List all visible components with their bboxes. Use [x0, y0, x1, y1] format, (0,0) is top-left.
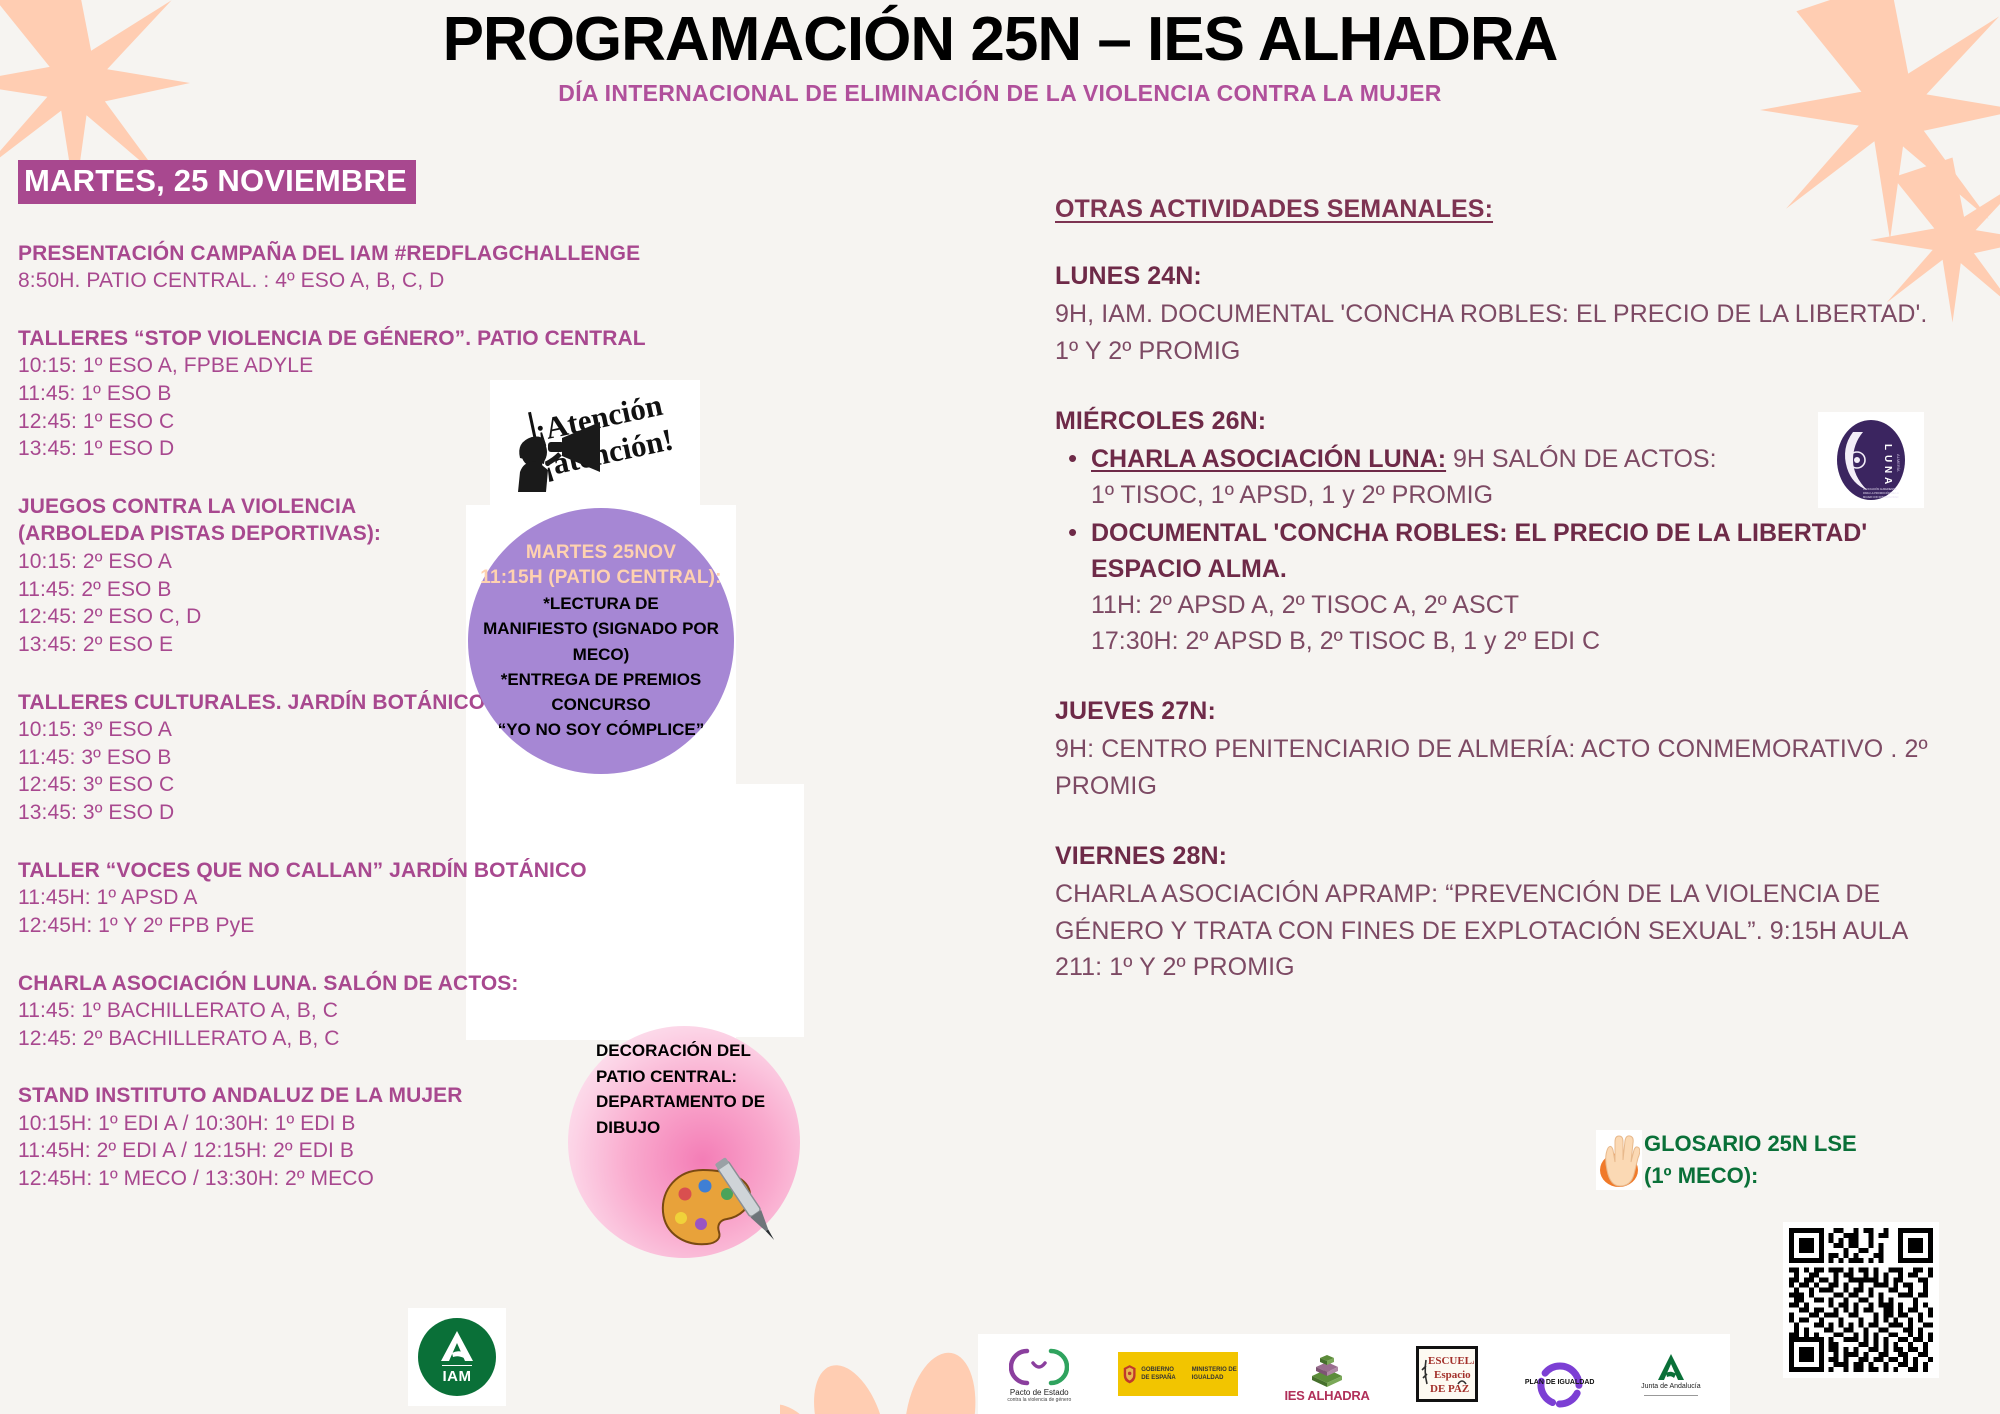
glosario-line-1: GLOSARIO 25N LSE: [1644, 1128, 1857, 1160]
manifesto-line-1: MARTES 25NOV: [526, 541, 676, 566]
bullet-bold-label: CHARLA ASOCIACIÓN LUNA:: [1091, 445, 1446, 473]
block-line: 12:45: 3º ESO C: [18, 771, 678, 799]
decoration-line-3: DEPARTAMENTO DE: [596, 1089, 796, 1115]
footer-logo-strip: Pacto de Estado contra la violencia de g…: [978, 1334, 1730, 1414]
divider: [1644, 1395, 1698, 1396]
manifesto-line-7: CONCURSO: [551, 693, 650, 716]
day-banner-martes: MARTES, 25 NOVIEMBRE: [18, 160, 416, 204]
block-line: 11:45: 1º ESO B: [18, 380, 678, 408]
manifesto-line-8: “YO NO SOY CÓMPLICE”: [498, 718, 705, 741]
schedule-block-talleres-stop: TALLERES “STOP VIOLENCIA DE GÉNERO”. PAT…: [18, 325, 678, 463]
manifesto-line-2: 11:15H (PATIO CENTRAL):: [480, 566, 721, 591]
block-heading: CHARLA ASOCIACIÓN LUNA. SALÓN DE ACTOS:: [18, 970, 678, 997]
block-line: 13:45: 1º ESO D: [18, 435, 678, 463]
logo-ies-alhadra: IES ALHADRA: [1285, 1334, 1370, 1414]
decoration-line-1: DECORACIÓN DEL: [596, 1038, 796, 1064]
block-line: 13:45: 3º ESO D: [18, 799, 678, 827]
logo-caption: GOBIERNO DE ESPAÑA: [1141, 1366, 1182, 1382]
weekly-day-label: LUNES 24N:: [1055, 262, 1955, 291]
block-heading: TALLER “VOCES QUE NO CALLAN” JARDÍN BOTÁ…: [18, 857, 678, 884]
svg-text:U: U: [1882, 455, 1893, 462]
iam-logo-label: IAM: [443, 1368, 472, 1385]
block-heading: TALLERES “STOP VIOLENCIA DE GÉNERO”. PAT…: [18, 325, 678, 352]
escudo-icon: [1122, 1357, 1137, 1391]
logo-gobierno-de-espana: GOBIERNO DE ESPAÑA MINISTERIO DE IGUALDA…: [1118, 1334, 1238, 1414]
logo-caption: PLAN DE IGUALDAD: [1525, 1379, 1595, 1387]
block-line: 12:45: 2º BACHILLERATO A, B, C: [18, 1025, 678, 1053]
weekly-block-viernes: VIERNES 28N: CHARLA ASOCIACIÓN APRAMP: “…: [1055, 842, 1955, 986]
svg-text:ESCUELA: ESCUELA: [1428, 1355, 1474, 1367]
svg-text:A: A: [1882, 477, 1893, 484]
luna-logo: L U N A ALMERÍA ASOCIACIÓN ALMERIENSE PA…: [1818, 412, 1924, 508]
raised-hand-icon: [1596, 1130, 1642, 1190]
logo-plan-de-igualdad: PLAN DE IGUALDAD: [1525, 1334, 1595, 1414]
weekly-day-text: 9H: CENTRO PENITENCIARIO DE ALMERÍA: ACT…: [1055, 731, 1955, 804]
iam-logo: IAM: [408, 1308, 506, 1406]
weekly-day-label: JUEVES 27N:: [1055, 697, 1955, 726]
right-column: OTRAS ACTIVIDADES SEMANALES: LUNES 24N: …: [1055, 195, 1955, 986]
block-line: 11:45H: 1º APSD A: [18, 884, 678, 912]
logo-caption: Pacto de Estado: [1010, 1388, 1069, 1397]
bullet-bold-label: DOCUMENTAL 'CONCHA ROBLES: EL PRECIO DE …: [1091, 519, 1867, 583]
escuela-box: ESCUELA Espacio DE PAZ: [1416, 1346, 1478, 1402]
svg-text:Espacio: Espacio: [1434, 1369, 1471, 1381]
logo-subcaption: MINISTERIO DE IGUALDAD: [1192, 1366, 1238, 1382]
svg-text:DE PAZ: DE PAZ: [1430, 1383, 1469, 1395]
logo-escuela-espacio-de-paz: ESCUELA Espacio DE PAZ: [1416, 1334, 1478, 1414]
weekly-day-text: CHARLA ASOCIACIÓN APRAMP: “PREVENCIÓN DE…: [1055, 876, 1955, 986]
alhadra-blocks-icon: [1306, 1346, 1348, 1388]
weekly-block-jueves: JUEVES 27N: 9H: CENTRO PENITENCIARIO DE …: [1055, 697, 1955, 804]
qr-code[interactable]: [1783, 1222, 1939, 1378]
bullet-sub-line: 11H: 2º APSD A, 2º TISOC A, 2º ASCT: [1091, 587, 1955, 623]
gobierno-caption: GOBIERNO DE ESPAÑA: [1141, 1366, 1182, 1382]
schedule-block-voces: TALLER “VOCES QUE NO CALLAN” JARDÍN BOTÁ…: [18, 857, 678, 940]
manifesto-line-3: *LECTURA DE: [543, 592, 659, 615]
manifesto-line-5: MECO): [573, 643, 630, 666]
logo-pacto-de-estado: Pacto de Estado contra la violencia de g…: [1007, 1334, 1071, 1414]
logo-caption: Junta de Andalucía: [1641, 1383, 1701, 1390]
svg-text:MUJER CON DISCAPACIDAD: MUJER CON DISCAPACIDAD: [1863, 495, 1899, 499]
manifesto-line-4: MANIFIESTO (SIGNADO POR: [483, 617, 719, 640]
block-line: 12:45H: 1º Y 2º FPB PyE: [18, 912, 678, 940]
paint-palette-icon: [655, 1150, 775, 1260]
junta-a-icon: [1654, 1352, 1688, 1382]
list-item: DOCUMENTAL 'CONCHA ROBLES: EL PRECIO DE …: [1055, 515, 1955, 659]
bullet-rest-text: 9H SALÓN DE ACTOS:: [1446, 445, 1716, 473]
andalusia-a-icon: [435, 1329, 479, 1363]
weekly-activities-heading: OTRAS ACTIVIDADES SEMANALES:: [1055, 195, 1955, 224]
iam-logo-circle: IAM: [418, 1318, 496, 1396]
block-line: 12:45: 1º ESO C: [18, 408, 678, 436]
decoration-label: DECORACIÓN DEL PATIO CENTRAL: DEPARTAMEN…: [596, 1038, 796, 1140]
ministerio-caption: MINISTERIO DE IGUALDAD: [1192, 1366, 1238, 1382]
block-line: 8:50H. PATIO CENTRAL. : 4º ESO A, B, C, …: [18, 267, 678, 295]
logo-caption: IES ALHADRA: [1285, 1388, 1370, 1403]
bullet-sub-line: 17:30H: 2º APSD B, 2º TISOC B, 1 y 2º ED…: [1091, 623, 1955, 659]
decoration-line-4: DIBUJO: [596, 1115, 796, 1141]
page-title: PROGRAMACIÓN 25N – IES ALHADRA: [0, 4, 2000, 75]
glosario-text: GLOSARIO 25N LSE (1º MECO):: [1644, 1128, 1857, 1192]
svg-text:L: L: [1882, 444, 1893, 450]
glosario-row: GLOSARIO 25N LSE (1º MECO):: [1596, 1128, 1857, 1192]
schedule-block-charla-luna: CHARLA ASOCIACIÓN LUNA. SALÓN DE ACTOS: …: [18, 970, 678, 1053]
manifesto-line-6: *ENTREGA DE PREMIOS: [501, 668, 702, 691]
manifesto-circle: MARTES 25NOV 11:15H (PATIO CENTRAL): *LE…: [468, 508, 734, 774]
logo-junta-de-andalucia: Junta de Andalucía: [1641, 1334, 1701, 1414]
decoration-line-2: PATIO CENTRAL:: [596, 1064, 796, 1090]
gobierno-box: GOBIERNO DE ESPAÑA MINISTERIO DE IGUALDA…: [1118, 1352, 1238, 1396]
weekly-day-label: VIERNES 28N:: [1055, 842, 1955, 871]
weekly-day-text: 9H, IAM. DOCUMENTAL 'CONCHA ROBLES: EL P…: [1055, 296, 1955, 369]
weekly-block-lunes: LUNES 24N: 9H, IAM. DOCUMENTAL 'CONCHA R…: [1055, 262, 1955, 369]
block-heading: PRESENTACIÓN CAMPAÑA DEL IAM #REDFLAGCHA…: [18, 240, 678, 267]
logo-subcaption: contra la violencia de género: [1007, 1397, 1071, 1403]
block-line: 11:45: 1º BACHILLERATO A, B, C: [18, 997, 678, 1025]
glosario-line-2: (1º MECO):: [1644, 1160, 1857, 1192]
svg-text:N: N: [1882, 466, 1893, 473]
svg-text:ALMERÍA: ALMERÍA: [1896, 454, 1901, 472]
page-subtitle: DÍA INTERNACIONAL DE ELIMINACIÓN DE LA V…: [0, 80, 2000, 107]
schedule-block-presentacion: PRESENTACIÓN CAMPAÑA DEL IAM #REDFLAGCHA…: [18, 240, 678, 295]
block-line: 10:15: 1º ESO A, FPBE ADYLE: [18, 352, 678, 380]
